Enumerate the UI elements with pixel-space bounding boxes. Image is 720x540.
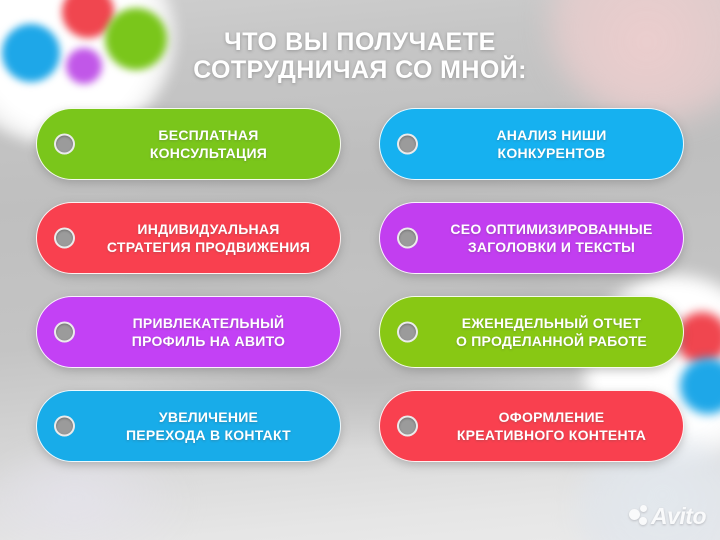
page-title-line-2: СОТРУДНИЧАЯ СО МНОЙ:: [0, 56, 720, 84]
hole-icon: [54, 228, 75, 249]
benefit-pill-weekly-work-report[interactable]: ЕЖЕНЕДЕЛЬНЫЙ ОТЧЕТ О ПРОДЕЛАННОЙ РАБОТЕ: [379, 296, 684, 368]
avito-watermark: Avito: [629, 504, 706, 528]
benefit-label: ЕЖЕНЕДЕЛЬНЫЙ ОТЧЕТ О ПРОДЕЛАННОЙ РАБОТЕ: [456, 314, 647, 350]
benefit-label: ОФОРМЛЕНИЕ КРЕАТИВНОГО КОНТЕНТА: [457, 408, 646, 444]
page-title: ЧТО ВЫ ПОЛУЧАЕТЕ СОТРУДНИЧАЯ СО МНОЙ:: [0, 28, 720, 84]
benefit-pill-competitor-niche-analysis[interactable]: АНАЛИЗ НИШИ КОНКУРЕНТОВ: [379, 108, 684, 180]
benefit-pill-seo-titles-and-texts[interactable]: СЕО ОПТИМИЗИРОВАННЫЕ ЗАГОЛОВКИ И ТЕКСТЫ: [379, 202, 684, 274]
hole-icon: [54, 416, 75, 437]
decor-dot-blue-right: [680, 358, 720, 414]
benefit-label: ПРИВЛЕКАТЕЛЬНЫЙ ПРОФИЛЬ НА АВИТО: [132, 314, 285, 350]
benefit-pill-individual-promotion-strategy[interactable]: ИНДИВИДУАЛЬНАЯ СТРАТЕГИЯ ПРОДВИЖЕНИЯ: [36, 202, 341, 274]
hole-icon: [397, 416, 418, 437]
page-title-line-1: ЧТО ВЫ ПОЛУЧАЕТЕ: [0, 28, 720, 56]
poster-canvas: ЧТО ВЫ ПОЛУЧАЕТЕ СОТРУДНИЧАЯ СО МНОЙ: БЕ…: [0, 0, 720, 540]
hole-icon: [397, 322, 418, 343]
hole-icon: [397, 134, 418, 155]
benefit-pill-free-consultation[interactable]: БЕСПЛАТНАЯ КОНСУЛЬТАЦИЯ: [36, 108, 341, 180]
benefit-pill-increase-contact-clicks[interactable]: УВЕЛИЧЕНИЕ ПЕРЕХОДА В КОНТАКТ: [36, 390, 341, 462]
benefit-label: БЕСПЛАТНАЯ КОНСУЛЬТАЦИЯ: [150, 126, 267, 162]
benefit-label: АНАЛИЗ НИШИ КОНКУРЕНТОВ: [496, 126, 606, 162]
hole-icon: [54, 134, 75, 155]
decor-lavender-blob-bottom-left: [0, 450, 190, 540]
avito-logo-icon: [629, 504, 648, 528]
benefit-pill-attractive-avito-profile[interactable]: ПРИВЛЕКАТЕЛЬНЫЙ ПРОФИЛЬ НА АВИТО: [36, 296, 341, 368]
benefit-label: УВЕЛИЧЕНИЕ ПЕРЕХОДА В КОНТАКТ: [126, 408, 291, 444]
avito-watermark-text: Avito: [651, 504, 706, 528]
benefits-grid: БЕСПЛАТНАЯ КОНСУЛЬТАЦИЯ АНАЛИЗ НИШИ КОНК…: [36, 108, 684, 462]
benefit-label: ИНДИВИДУАЛЬНАЯ СТРАТЕГИЯ ПРОДВИЖЕНИЯ: [107, 220, 310, 256]
benefit-label: СЕО ОПТИМИЗИРОВАННЫЕ ЗАГОЛОВКИ И ТЕКСТЫ: [450, 220, 652, 256]
benefit-pill-creative-content-design[interactable]: ОФОРМЛЕНИЕ КРЕАТИВНОГО КОНТЕНТА: [379, 390, 684, 462]
hole-icon: [54, 322, 75, 343]
hole-icon: [397, 228, 418, 249]
